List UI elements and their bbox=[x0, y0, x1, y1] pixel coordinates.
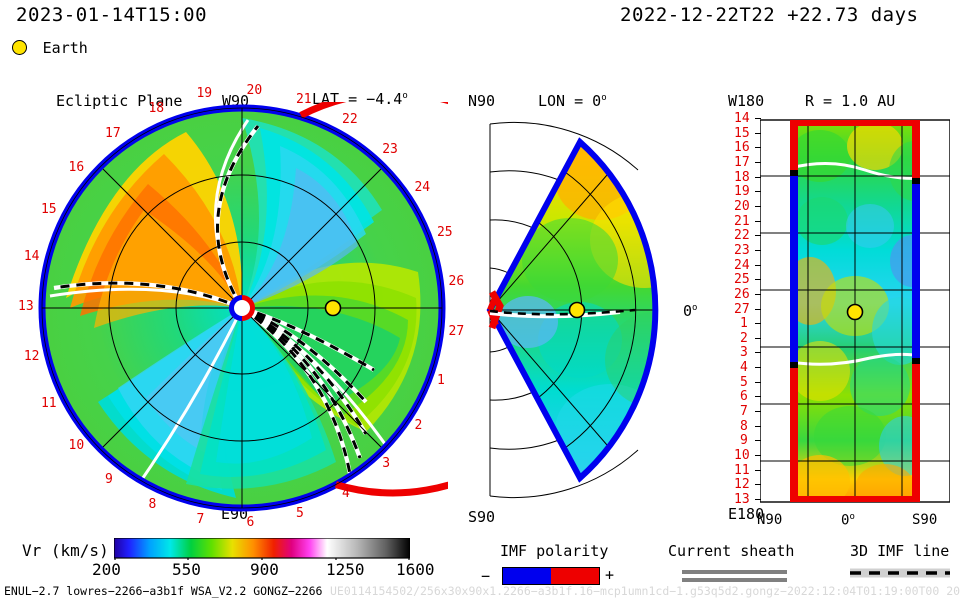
ecliptic-ring-label-3: 3 bbox=[382, 456, 390, 471]
shell-ytick-11: 11 bbox=[734, 463, 750, 478]
shell-panel-title: R = 1.0 AU bbox=[805, 92, 895, 110]
shell-ytick-7: 7 bbox=[740, 404, 748, 419]
ecliptic-ring-label-16: 16 bbox=[69, 160, 85, 175]
earth-marker-icon bbox=[12, 40, 27, 55]
ecliptic-ring-label-14: 14 bbox=[24, 249, 40, 264]
ecliptic-ring-label-5: 5 bbox=[296, 506, 304, 521]
shell-ytick-17: 17 bbox=[734, 155, 750, 170]
shell-ytick-27: 27 bbox=[734, 302, 750, 317]
shell-xtick-n90: N90 bbox=[757, 512, 782, 528]
shell-ytick-6: 6 bbox=[740, 389, 748, 404]
ecliptic-ring-label-17: 17 bbox=[105, 126, 121, 141]
imf-polarity-swatch bbox=[502, 567, 600, 585]
shell-ytick-22: 22 bbox=[734, 228, 750, 243]
colorbar-tick-200: 200 bbox=[92, 560, 121, 579]
shell-ytick-19: 19 bbox=[734, 184, 750, 199]
ecliptic-ring-label-24: 24 bbox=[414, 180, 430, 195]
meridional-plane-plot bbox=[460, 110, 695, 510]
shell-ytick-20: 20 bbox=[734, 199, 750, 214]
ecliptic-ring-label-7: 7 bbox=[196, 512, 204, 527]
imf-positive-swatch bbox=[551, 568, 599, 584]
imf-negative-swatch bbox=[503, 568, 551, 584]
ecliptic-ring-label-8: 8 bbox=[148, 497, 156, 512]
shell-ytick-10: 10 bbox=[734, 448, 750, 463]
current-sheath-title: Current sheath bbox=[668, 542, 794, 560]
imf-line-swatch bbox=[850, 566, 950, 580]
shell-xtick-0: 0o bbox=[841, 512, 855, 529]
ecliptic-ring-label-20: 20 bbox=[247, 83, 263, 98]
meridional-panel-title: LON = 0o bbox=[538, 92, 607, 110]
shell-ytick-14: 14 bbox=[734, 111, 750, 126]
imf-line-title: 3D IMF line bbox=[850, 542, 949, 560]
shell-ytick-24: 24 bbox=[734, 258, 750, 273]
shell-ytick-8: 8 bbox=[740, 419, 748, 434]
colorbar-tick-1250: 1250 bbox=[326, 560, 365, 579]
meridional-top-label: N90 bbox=[468, 92, 495, 110]
ecliptic-ring-label-15: 15 bbox=[41, 202, 57, 217]
shell-topleft-label: W180 bbox=[728, 92, 764, 110]
shell-ytick-21: 21 bbox=[734, 214, 750, 229]
model-datetime-left: 2023-01-14T15:00 bbox=[16, 4, 207, 26]
shell-ytick-13: 13 bbox=[734, 492, 750, 507]
earth-legend-label: Earth bbox=[43, 39, 88, 57]
colorbar-label: Vr (km/s) bbox=[22, 541, 109, 560]
colorbar-tick-1600: 1600 bbox=[396, 560, 435, 579]
shell-plot bbox=[760, 116, 950, 506]
shell-ytick-25: 25 bbox=[734, 272, 750, 287]
colorbar-gradient bbox=[114, 538, 410, 560]
imf-polarity-minus: − bbox=[481, 567, 490, 585]
shell-xtick-s90: S90 bbox=[912, 512, 937, 528]
footer-model-id: ENUL−2.7 lowres−2266−a3b1f WSA_V2.2 GONG… bbox=[4, 584, 323, 598]
shell-ytick-12: 12 bbox=[734, 477, 750, 492]
ecliptic-ring-label-11: 11 bbox=[41, 396, 57, 411]
ecliptic-ring-label-22: 22 bbox=[342, 112, 358, 127]
footer-ghost-text: UE0114154502/256x30x90x1.2266−a3b1f.16−m… bbox=[330, 584, 960, 598]
shell-ytick-16: 16 bbox=[734, 140, 750, 155]
meridional-bottom-label: S90 bbox=[468, 508, 495, 526]
shell-ytick-26: 26 bbox=[734, 287, 750, 302]
shell-ytick-4: 4 bbox=[740, 360, 748, 375]
ecliptic-ring-label-19: 19 bbox=[196, 86, 212, 101]
shell-ytick-2: 2 bbox=[740, 331, 748, 346]
current-sheath-swatch bbox=[682, 570, 787, 582]
shell-ytick-9: 9 bbox=[740, 433, 748, 448]
shell-ytick-18: 18 bbox=[734, 170, 750, 185]
model-datetime-right: 2022-12-22T22 +22.73 days bbox=[620, 4, 918, 26]
ecliptic-ring-label-12: 12 bbox=[24, 349, 40, 364]
ecliptic-ring-label-10: 10 bbox=[69, 438, 85, 453]
earth-legend: Earth bbox=[12, 38, 88, 57]
ecliptic-ring-label-13: 13 bbox=[18, 299, 34, 314]
shell-ytick-1: 1 bbox=[740, 316, 748, 331]
ecliptic-ring-label-6: 6 bbox=[247, 515, 255, 530]
ecliptic-ring-label-4: 4 bbox=[342, 486, 350, 501]
imf-polarity-title: IMF polarity bbox=[500, 542, 608, 560]
colorbar-tick-900: 900 bbox=[250, 560, 279, 579]
ecliptic-ring-label-25: 25 bbox=[437, 225, 453, 240]
ecliptic-ring-label-1: 1 bbox=[437, 373, 445, 388]
imf-polarity-plus: + bbox=[605, 566, 614, 584]
shell-ytick-23: 23 bbox=[734, 243, 750, 258]
ecliptic-ring-label-2: 2 bbox=[414, 418, 422, 433]
shell-ytick-5: 5 bbox=[740, 375, 748, 390]
ecliptic-plane-plot bbox=[36, 102, 448, 514]
ecliptic-ring-label-9: 9 bbox=[105, 472, 113, 487]
ecliptic-ring-label-21: 21 bbox=[296, 92, 312, 107]
ecliptic-ring-label-23: 23 bbox=[382, 142, 398, 157]
shell-ytick-3: 3 bbox=[740, 345, 748, 360]
colorbar-tick-550: 550 bbox=[172, 560, 201, 579]
shell-ytick-15: 15 bbox=[734, 126, 750, 141]
ecliptic-ring-label-18: 18 bbox=[148, 101, 164, 116]
